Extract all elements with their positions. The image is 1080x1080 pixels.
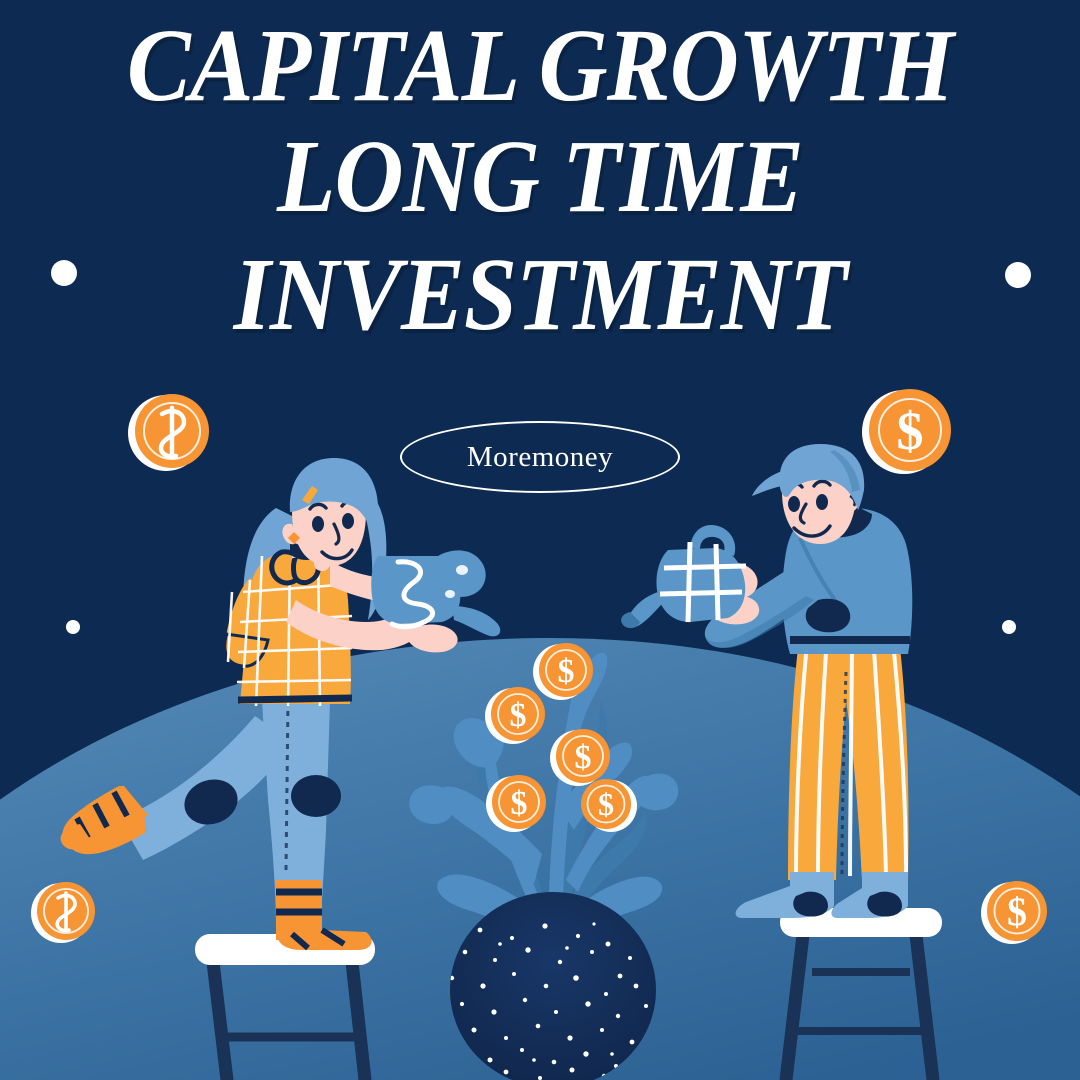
- svg-text:$: $: [510, 697, 527, 734]
- svg-text:$: $: [897, 401, 924, 461]
- poster-canvas: $ $ $ $: [0, 0, 1080, 1080]
- svg-text:$: $: [598, 786, 614, 822]
- star-upper-left-icon: [51, 260, 77, 286]
- svg-text:$: $: [558, 653, 575, 690]
- svg-text:$: $: [511, 785, 528, 822]
- star-upper-right-icon: [1005, 262, 1031, 288]
- svg-text:$: $: [1007, 889, 1027, 934]
- svg-text:$: $: [575, 739, 592, 776]
- scene-illustration: $ $ $ $: [0, 0, 1080, 1080]
- star-mid-left-icon: [66, 620, 80, 634]
- brand-badge[interactable]: Moremoney: [400, 421, 680, 493]
- star-mid-right-icon: [1002, 620, 1016, 634]
- brand-badge-label: Moremoney: [467, 441, 613, 474]
